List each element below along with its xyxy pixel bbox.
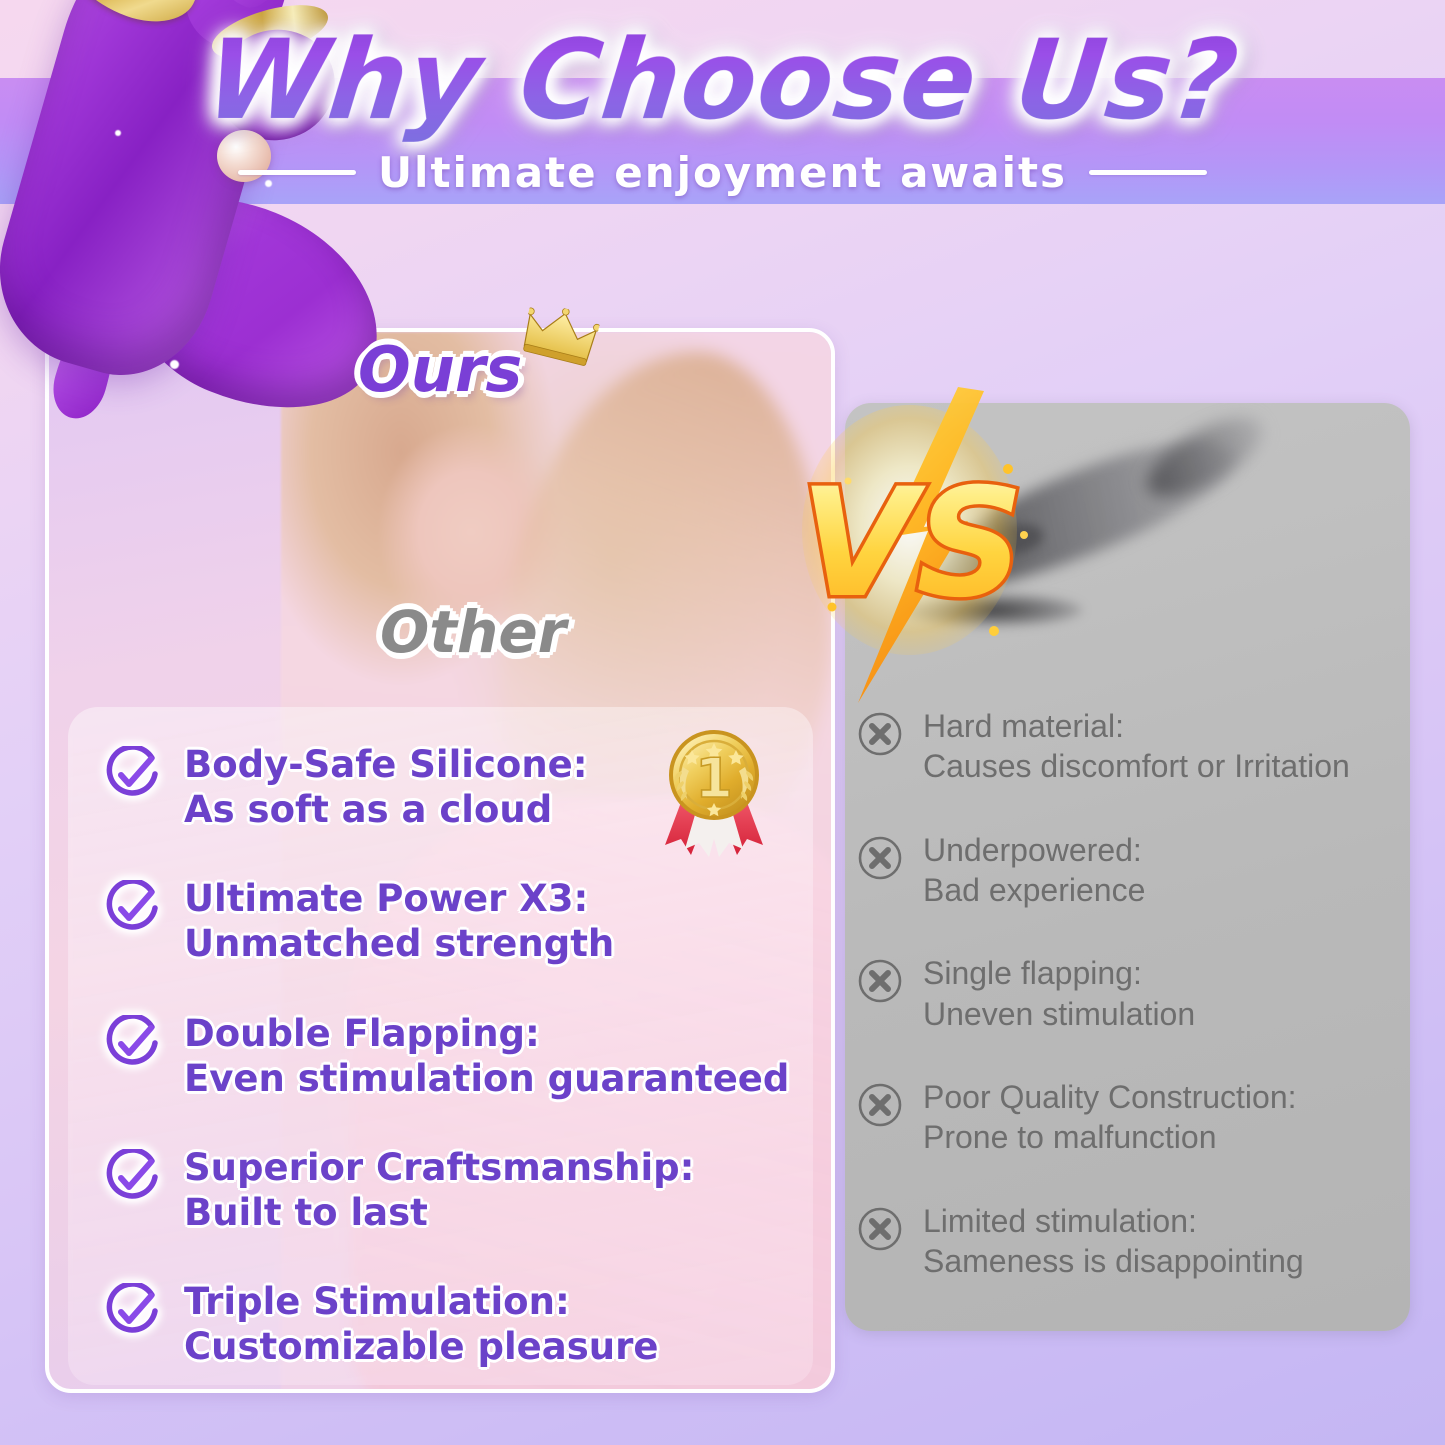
feature-detail: Even stimulation guaranteed (184, 1056, 789, 1101)
list-item: Underpowered: Bad experience (857, 830, 1417, 911)
feature-detail: As soft as a cloud (184, 787, 588, 832)
feature-title: Triple Stimulation: (184, 1280, 570, 1323)
con-title: Underpowered: (923, 832, 1142, 868)
check-circle-icon (104, 1149, 160, 1205)
con-text: Underpowered: Bad experience (923, 830, 1145, 911)
feature-text: Double Flapping: Even stimulation guaran… (184, 1011, 789, 1101)
check-circle-icon (104, 1283, 160, 1339)
con-text: Single flapping: Uneven stimulation (923, 953, 1195, 1034)
check-circle-icon (104, 1015, 160, 1071)
feature-text: Ultimate Power X3: Unmatched strength (184, 876, 614, 966)
feature-detail: Built to last (184, 1190, 694, 1235)
rule-right-icon (1089, 170, 1207, 175)
list-item: Triple Stimulation: Customizable pleasur… (104, 1279, 794, 1369)
list-item: Double Flapping: Even stimulation guaran… (104, 1011, 794, 1101)
medal-rank-label: 1 (695, 747, 733, 810)
list-item: Superior Craftsmanship: Built to last (104, 1145, 794, 1235)
check-circle-icon (104, 880, 160, 936)
product-image-ours (0, 0, 435, 500)
feature-title: Superior Craftsmanship: (184, 1146, 694, 1189)
con-title: Limited stimulation: (923, 1203, 1197, 1239)
feature-text: Triple Stimulation: Customizable pleasur… (184, 1279, 658, 1369)
con-detail: Uneven stimulation (923, 994, 1195, 1034)
list-item: Poor Quality Construction: Prone to malf… (857, 1077, 1417, 1158)
other-feature-list: Hard material: Causes discomfort or Irri… (857, 706, 1417, 1281)
feature-title: Body-Safe Silicone: (184, 743, 588, 786)
other-label: Other (380, 598, 566, 666)
feature-text: Superior Craftsmanship: Built to last (184, 1145, 694, 1235)
feature-detail: Customizable pleasure (184, 1324, 658, 1369)
con-text: Poor Quality Construction: Prone to malf… (923, 1077, 1297, 1158)
sparkle-icon (170, 360, 179, 369)
check-circle-icon (104, 746, 160, 802)
list-item: Limited stimulation: Sameness is disappo… (857, 1201, 1417, 1282)
feature-detail: Unmatched strength (184, 921, 614, 966)
con-detail: Causes discomfort or Irritation (923, 746, 1350, 786)
con-detail: Bad experience (923, 870, 1145, 910)
list-item: Single flapping: Uneven stimulation (857, 953, 1417, 1034)
feature-text: Body-Safe Silicone: As soft as a cloud (184, 742, 588, 832)
feature-title: Ultimate Power X3: (184, 877, 588, 920)
con-title: Poor Quality Construction: (923, 1079, 1297, 1115)
ours-label: Ours (358, 333, 522, 406)
x-circle-icon (857, 1082, 903, 1128)
versus-label: VS (800, 457, 1024, 631)
feature-title: Double Flapping: (184, 1012, 540, 1055)
sparkle-icon (115, 130, 121, 136)
x-circle-icon (857, 835, 903, 881)
con-title: Hard material: (923, 708, 1124, 744)
list-item: Ultimate Power X3: Unmatched strength (104, 876, 794, 966)
con-detail: Sameness is disappointing (923, 1241, 1304, 1281)
page-subtitle: Ultimate enjoyment awaits (378, 148, 1067, 197)
list-item: Hard material: Causes discomfort or Irri… (857, 706, 1417, 787)
con-detail: Prone to malfunction (923, 1117, 1297, 1157)
x-circle-icon (857, 958, 903, 1004)
x-circle-icon (857, 711, 903, 757)
gold-medal-first-place-icon: 1 (659, 727, 769, 859)
con-text: Limited stimulation: Sameness is disappo… (923, 1201, 1304, 1282)
con-title: Single flapping: (923, 955, 1142, 991)
subtitle-row: Ultimate enjoyment awaits (0, 148, 1445, 197)
rule-left-icon (238, 170, 356, 175)
con-text: Hard material: Causes discomfort or Irri… (923, 706, 1350, 787)
versus-badge: VS (762, 385, 1062, 705)
x-circle-icon (857, 1206, 903, 1252)
